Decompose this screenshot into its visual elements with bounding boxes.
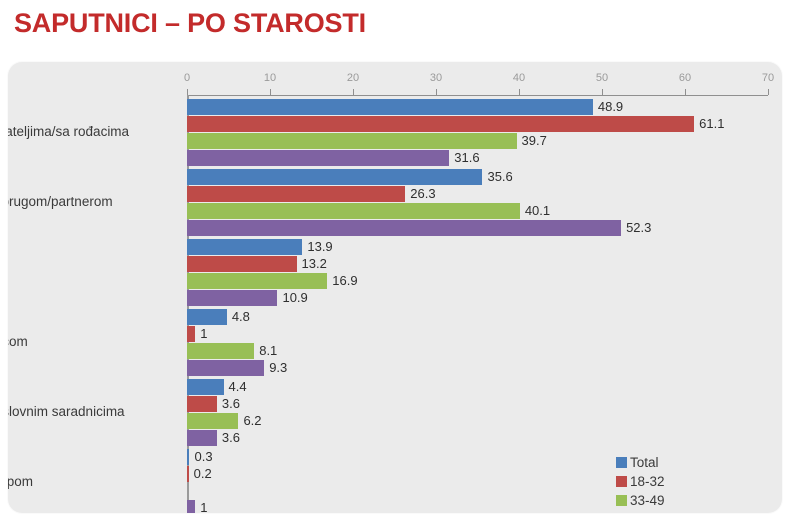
legend-swatch-icon xyxy=(616,495,627,506)
legend-item: 18-32 xyxy=(616,472,665,490)
bar xyxy=(187,239,302,255)
legend-label: Total xyxy=(630,455,659,470)
bar-value-label: 26.3 xyxy=(405,186,435,202)
x-axis-tick xyxy=(685,89,686,95)
x-axis-tick-label: 70 xyxy=(762,72,774,84)
x-axis-tick xyxy=(602,89,603,95)
legend-item: Total xyxy=(616,453,665,471)
bar xyxy=(187,500,195,513)
bar-value-label: 39.7 xyxy=(517,133,547,149)
bar xyxy=(187,360,264,376)
legend-swatch-icon xyxy=(616,457,627,468)
category-label: Sa grupom xyxy=(8,474,157,489)
bar xyxy=(187,150,449,166)
x-axis-tick xyxy=(436,89,437,95)
bar xyxy=(187,116,694,132)
bar xyxy=(187,326,195,342)
x-axis-tick xyxy=(768,89,769,95)
bar-value-label: 48.9 xyxy=(593,99,623,115)
legend-label: 50+ xyxy=(630,512,653,514)
x-axis-tick-label: 20 xyxy=(347,72,359,84)
x-axis-tick xyxy=(187,89,188,95)
bar-value-label: 35.6 xyxy=(482,169,512,185)
bar-value-label: 0.3 xyxy=(189,449,212,465)
legend-label: 33-49 xyxy=(630,493,665,508)
bar-value-label: 40.1 xyxy=(520,203,550,219)
category-label: Sa poslovnim saradnicima xyxy=(8,404,157,419)
bar xyxy=(187,309,227,325)
bar-value-label: 10.9 xyxy=(277,290,307,306)
category-label: Sa suprugom/partnerom xyxy=(8,194,157,209)
chart-legend: Total18-3233-4950+ xyxy=(616,453,665,513)
legend-swatch-icon xyxy=(616,476,627,487)
x-axis-tick-label: 40 xyxy=(513,72,525,84)
bar-value-label: 9.3 xyxy=(264,360,287,376)
bar xyxy=(187,343,254,359)
bar-value-label: 1 xyxy=(195,500,207,513)
legend-label: 18-32 xyxy=(630,474,665,489)
x-axis-tick-label: 50 xyxy=(596,72,608,84)
bar xyxy=(187,169,482,185)
bar-value-label: 3.6 xyxy=(217,396,240,412)
legend-item: 33-49 xyxy=(616,491,665,509)
x-axis-tick-label: 10 xyxy=(264,72,276,84)
bar-value-label: 8.1 xyxy=(254,343,277,359)
x-axis-tick-label: 0 xyxy=(184,72,190,84)
bar-value-label: 1 xyxy=(195,326,207,342)
bar xyxy=(187,413,238,429)
bar-value-label: 16.9 xyxy=(327,273,357,289)
bar-value-label: 4.8 xyxy=(227,309,250,325)
bar xyxy=(187,379,224,395)
x-axis-line xyxy=(187,95,768,96)
bar-value-label: 52.3 xyxy=(621,220,651,236)
chart-panel: 010203040506070 Sa prijateljima/sa rođac… xyxy=(8,62,782,513)
bar xyxy=(187,99,593,115)
bar xyxy=(187,430,217,446)
bar-value-label: 13.2 xyxy=(297,256,327,272)
bar-value-label: 0.2 xyxy=(189,466,212,482)
bar xyxy=(187,396,217,412)
bar xyxy=(187,273,327,289)
bar xyxy=(187,290,277,306)
page-title: SAPUTNICI – PO STAROSTI xyxy=(14,8,366,39)
x-axis-tick xyxy=(270,89,271,95)
bar-value-label: 31.6 xyxy=(449,150,479,166)
bar-value-label: 6.2 xyxy=(238,413,261,429)
x-axis-tick xyxy=(519,89,520,95)
bar xyxy=(187,203,520,219)
category-label: Sa decom xyxy=(8,334,157,349)
bar-value-label: 13.9 xyxy=(302,239,332,255)
category-label: Sam xyxy=(8,264,157,279)
plot-area: 010203040506070 Sa prijateljima/sa rođac… xyxy=(187,95,768,513)
bar-value-label: 61.1 xyxy=(694,116,724,132)
bar xyxy=(187,220,621,236)
x-axis-tick-label: 30 xyxy=(430,72,442,84)
x-axis-tick-label: 60 xyxy=(679,72,691,84)
x-axis-tick xyxy=(353,89,354,95)
bar xyxy=(187,256,297,272)
bar-value-label: 4.4 xyxy=(224,379,247,395)
legend-item: 50+ xyxy=(616,510,665,513)
bar-value-label: 3.6 xyxy=(217,430,240,446)
bar xyxy=(187,133,517,149)
category-label: Sa prijateljima/sa rođacima xyxy=(8,124,157,139)
bar xyxy=(187,186,405,202)
